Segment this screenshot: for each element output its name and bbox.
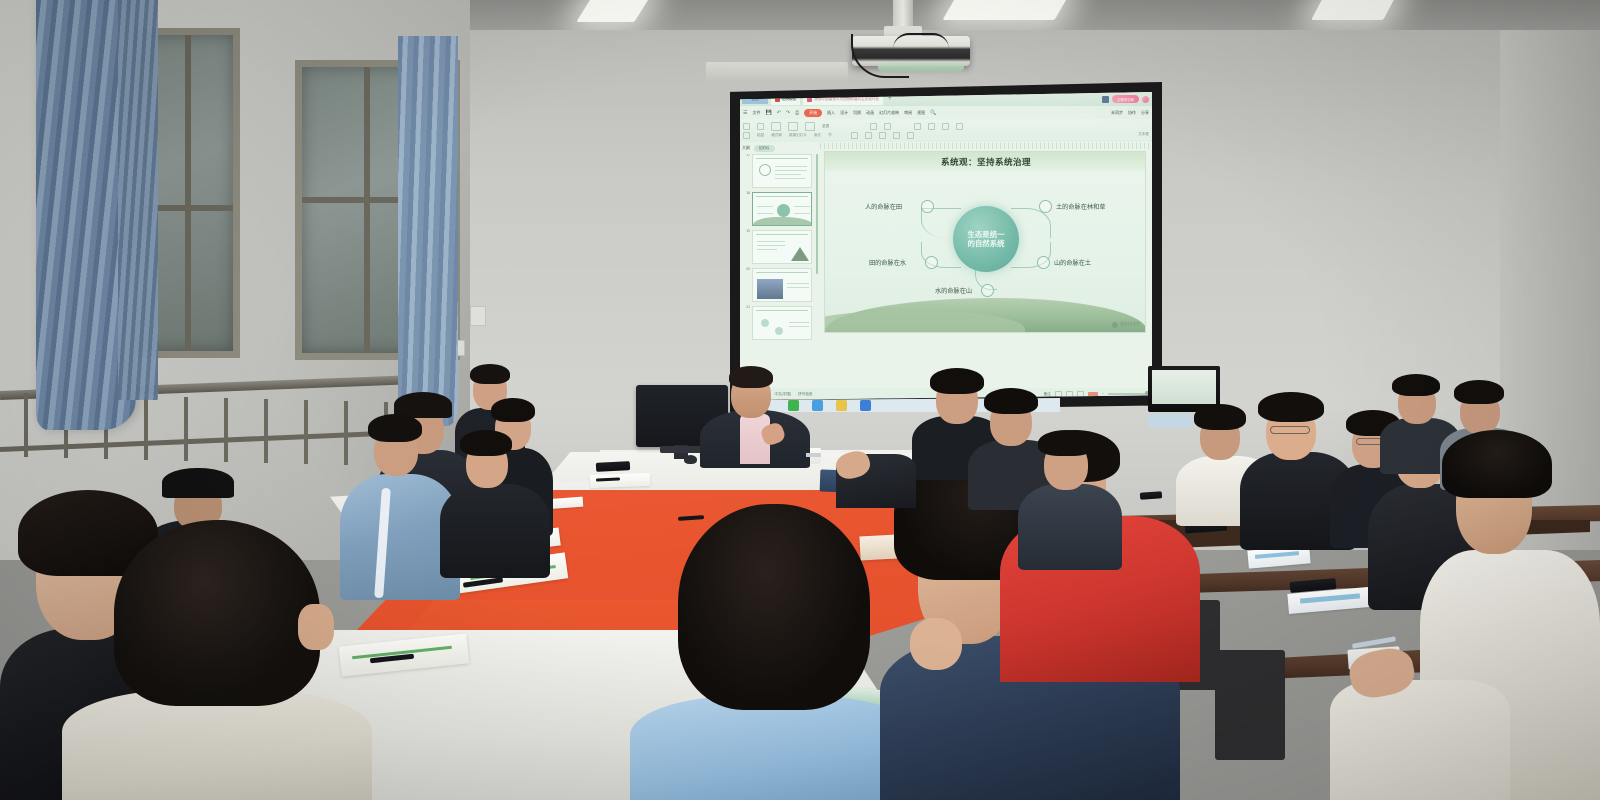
- ribbon-tab-animation[interactable]: 动画: [866, 110, 874, 116]
- strikethrough-icon[interactable]: [893, 132, 900, 139]
- italic-icon[interactable]: [865, 132, 872, 139]
- zoom-out-icon[interactable]: −: [1102, 392, 1104, 396]
- air-vent: [706, 62, 848, 82]
- node-label-3: 田的命脉在水: [869, 258, 906, 267]
- ceiling-light-2: [942, 0, 1069, 20]
- student-foreground-white-shirt: [62, 520, 372, 800]
- share-button[interactable]: 分享: [1141, 110, 1149, 116]
- new-slide-label[interactable]: 新建幻灯片: [789, 133, 807, 138]
- bold-icon[interactable]: [851, 132, 858, 139]
- bullet-icon[interactable]: [914, 123, 921, 130]
- core-line-1: 生态是统一: [968, 230, 1005, 239]
- node-ring-4: [1037, 256, 1050, 269]
- ribbon-tab-slideshow[interactable]: 幻灯片放映: [879, 110, 899, 116]
- slide-canvas[interactable]: 系统观：坚持系统治理 人的命脉在田 土的命脉在林和草 田的命脉在水 山的命脉在土…: [824, 151, 1146, 333]
- ribbon-toolbar: 重置 粘贴 格式刷 新建幻灯片 版式 节 文本框: [740, 119, 1152, 142]
- paste-icon[interactable]: [771, 122, 781, 131]
- thumbnail-item: 20: [742, 268, 818, 302]
- indent-icon[interactable]: [942, 123, 949, 130]
- student-center-back-3: [1018, 428, 1122, 568]
- presenter: [700, 366, 810, 466]
- ribbon-tab-review[interactable]: 审阅: [904, 110, 912, 116]
- search-icon[interactable]: 🔍: [930, 110, 936, 116]
- ribbon-tab-view[interactable]: 视图: [917, 110, 925, 116]
- ruler: [820, 143, 1150, 149]
- ribbon-tab-transition[interactable]: 切换: [853, 110, 861, 116]
- sync-status[interactable]: 未同步: [1111, 110, 1123, 116]
- notes-icon[interactable]: [836, 400, 847, 411]
- present-button[interactable]: [1088, 392, 1098, 397]
- outline-label[interactable]: 大纲: [742, 145, 750, 151]
- font-color-icon[interactable]: [907, 132, 914, 139]
- redo-icon[interactable]: ↷: [786, 110, 790, 116]
- wall-display-screen: [1152, 370, 1216, 404]
- phone-1[interactable]: [596, 461, 630, 472]
- thumbnail-item: 17: [742, 154, 818, 188]
- projector-mount: [893, 0, 913, 36]
- classroom-scene: 首页 稻壳模板 美丽中国建设人与自然和谐共生的现代化 + 云服务空间 ☰ 文件 …: [0, 0, 1600, 800]
- slide-thumbnail[interactable]: [752, 154, 812, 188]
- paste-label[interactable]: 粘贴: [757, 133, 764, 138]
- core-line-2: 的自然系统: [968, 239, 1005, 248]
- new-tab-button[interactable]: +: [888, 96, 892, 102]
- wps-icon[interactable]: [860, 400, 871, 411]
- student-table-head-right: [836, 438, 916, 508]
- thumbnail-item: 21: [742, 306, 818, 340]
- student-left-5-dark: [440, 428, 550, 578]
- format-painter-icon[interactable]: [743, 132, 750, 139]
- glasses-icon: [1270, 426, 1310, 434]
- print-icon[interactable]: ⎙: [795, 110, 799, 116]
- thumbnail-number: 21: [742, 306, 750, 310]
- slide-thumbnail[interactable]: [752, 268, 812, 302]
- slide-thumbnail-active[interactable]: [752, 192, 812, 226]
- thumbnail-number: 17: [742, 154, 750, 158]
- undo-icon[interactable]: ↶: [777, 110, 781, 116]
- slide-watermark: 秋叶PPT: [1112, 321, 1140, 328]
- menu-icon[interactable]: ☰: [743, 110, 747, 116]
- slide-title: 系统观：坚持系统治理: [825, 156, 1146, 168]
- ribbon-tab-design[interactable]: 设计: [840, 110, 848, 116]
- projection-screen[interactable]: 首页 稻壳模板 美丽中国建设人与自然和谐共生的现代化 + 云服务空间 ☰ 文件 …: [740, 92, 1152, 400]
- textbox-label[interactable]: 文本框: [1138, 132, 1149, 137]
- node-label-5: 水的命脉在山: [935, 286, 972, 295]
- wall-socket[interactable]: [470, 306, 486, 326]
- new-slide-icon[interactable]: [788, 122, 798, 131]
- mouse[interactable]: [684, 455, 697, 464]
- numbering-icon[interactable]: [928, 123, 935, 130]
- format-painter-label[interactable]: 格式刷: [771, 133, 782, 138]
- ribbon-tab-file[interactable]: 文件: [752, 110, 760, 116]
- thumbnail-number: 18: [742, 192, 750, 196]
- curtain-left-inner: [118, 0, 158, 400]
- slide-thumbnail[interactable]: [752, 230, 812, 264]
- ribbon-tab-row: ☰ 文件 💾 ↶ ↷ ⎙ 开始 插入 设计 切换 动画 幻灯片放映 审阅 视图 …: [740, 106, 1152, 119]
- section-label[interactable]: 节: [828, 133, 832, 138]
- thumbnail-item: 19: [742, 230, 818, 264]
- student-foreground-blue-hoodie: [620, 500, 920, 800]
- layout-label[interactable]: 版式: [814, 133, 821, 138]
- cloud-badge[interactable]: 云服务空间: [1112, 95, 1139, 103]
- underline-icon[interactable]: [879, 132, 886, 139]
- slide-thumbnail[interactable]: [752, 306, 812, 340]
- ribbon-tab-start[interactable]: 开始: [804, 109, 822, 117]
- node-label-2: 土的命脉在林和草: [1056, 202, 1106, 211]
- node-ring-3: [925, 256, 938, 269]
- projector-cable-loop: [893, 33, 949, 49]
- browser-icon[interactable]: [812, 400, 823, 411]
- node-ring-5: [981, 284, 994, 297]
- font-size-box[interactable]: [870, 123, 877, 130]
- thumbnail-item: 18: [742, 192, 818, 226]
- collaborate-button[interactable]: 协作: [1128, 110, 1136, 116]
- outline-pane-header: 大纲 幻灯片: [742, 143, 818, 153]
- monitor-stand: [660, 446, 704, 453]
- zoom-slider[interactable]: [1108, 393, 1148, 394]
- node-ring-2: [1039, 200, 1052, 213]
- watermark-icon: [1112, 322, 1118, 328]
- hand-on-chin: [910, 618, 962, 670]
- chair-right-2: [1215, 650, 1285, 760]
- copy-icon[interactable]: [757, 123, 764, 130]
- student-right-foreground-hand: [1330, 620, 1510, 800]
- paper-cup-band: [806, 453, 821, 457]
- thumbnail-number: 20: [742, 268, 750, 272]
- curtain-middle: [398, 36, 458, 426]
- node-label-1: 人的命脉在田: [865, 202, 902, 211]
- node-label-4: 山的命脉在土: [1054, 258, 1091, 267]
- layout-icon[interactable]: [805, 122, 815, 131]
- save-icon[interactable]: 💾: [765, 110, 771, 116]
- ceiling-light-3: [1311, 0, 1397, 20]
- slides-tab[interactable]: 幻灯片: [754, 145, 775, 152]
- slide-thumbnail-pane[interactable]: 17 18: [742, 154, 818, 398]
- node-ring-1: [921, 200, 934, 213]
- ribbon-tab-insert[interactable]: 插入: [827, 110, 835, 116]
- font-grow-icon[interactable]: [884, 123, 891, 130]
- watermark-text: 秋叶PPT: [1120, 321, 1140, 328]
- align-icon[interactable]: [956, 123, 963, 130]
- thumbnail-scrollbar[interactable]: [816, 154, 818, 274]
- cut-icon[interactable]: [743, 123, 750, 130]
- avatar[interactable]: [1142, 96, 1149, 103]
- slide-core-circle: 生态是统一 的自然系统: [953, 206, 1019, 272]
- thumbnail-number: 19: [742, 230, 750, 234]
- grid-icon[interactable]: [1102, 96, 1109, 103]
- reset-label[interactable]: 重置: [822, 124, 829, 129]
